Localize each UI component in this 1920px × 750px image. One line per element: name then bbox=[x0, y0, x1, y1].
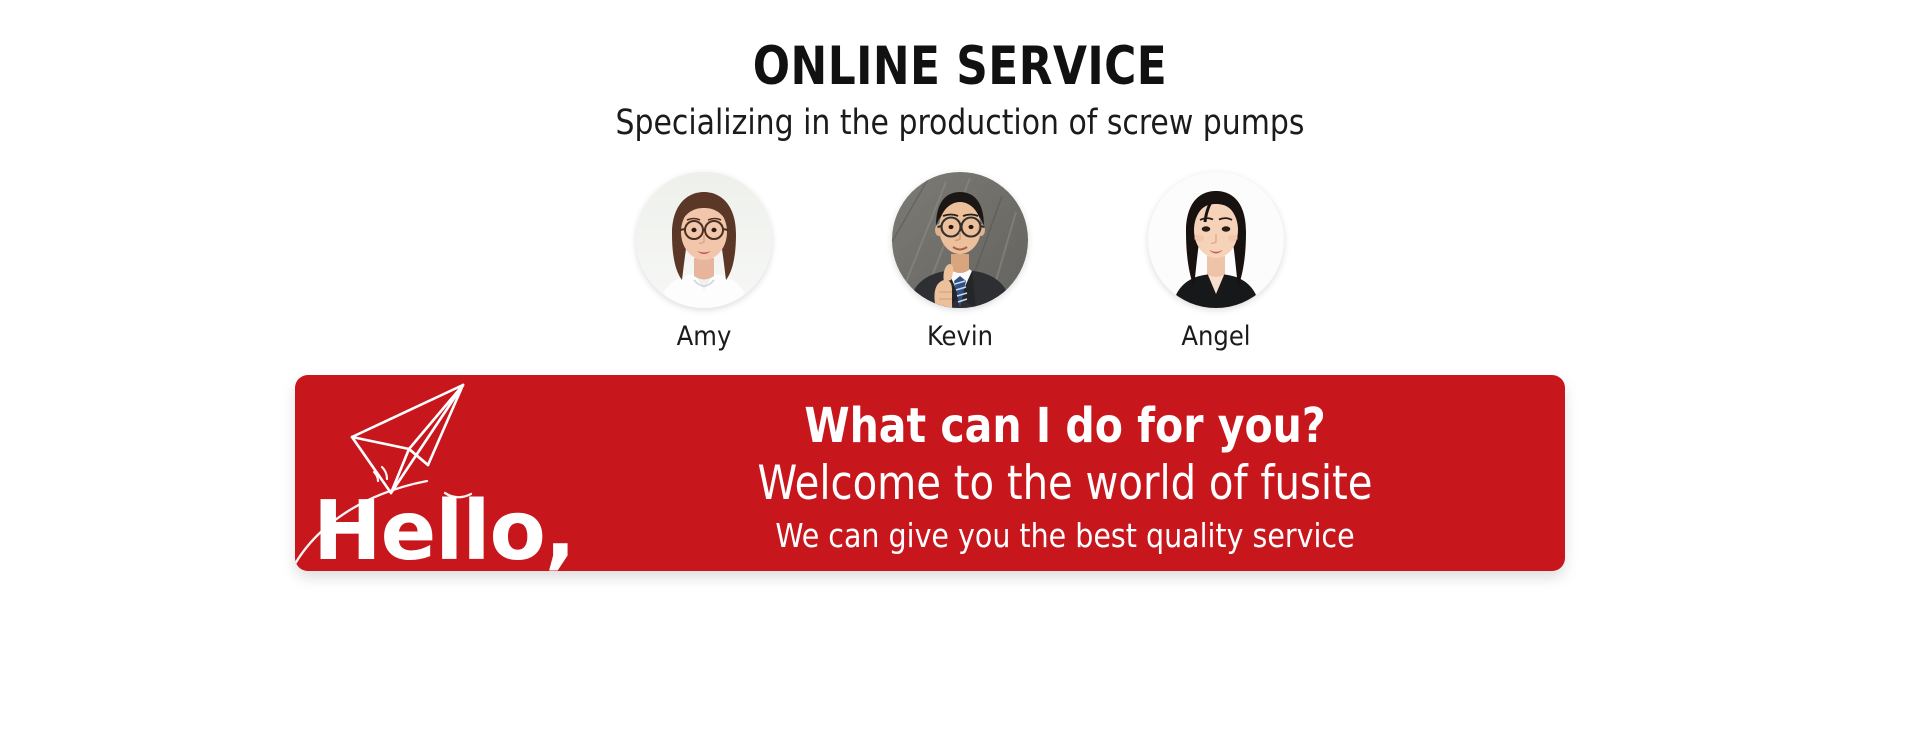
avatar-photo-amy[interactable] bbox=[636, 172, 772, 308]
page-subtitle: Specializing in the production of screw … bbox=[48, 103, 1872, 143]
avatar-photo-angel[interactable] bbox=[1148, 172, 1284, 308]
contact-cta-banner[interactable]: Hello, What can I do for you? Welcome to… bbox=[295, 375, 1565, 571]
team-member-angel[interactable]: Angel bbox=[1148, 172, 1284, 350]
banner-tagline: We can give you the best quality service bbox=[585, 516, 1545, 556]
avatar-photo-kevin[interactable] bbox=[892, 172, 1028, 308]
banner-subheadline: Welcome to the world of fusite bbox=[590, 456, 1540, 511]
team-member-name: Kevin bbox=[927, 323, 993, 350]
page-title: ONLINE SERVICE bbox=[77, 38, 1843, 95]
banner-greeting: Hello, bbox=[313, 491, 575, 571]
team-member-name: Angel bbox=[1181, 323, 1250, 350]
page-header: ONLINE SERVICE Specializing in the produ… bbox=[0, 38, 1920, 143]
team-member-name: Amy bbox=[677, 323, 732, 350]
team-member-amy[interactable]: Amy bbox=[636, 172, 772, 350]
team-member-list: Amy bbox=[0, 172, 1920, 350]
banner-copy: What can I do for you? Welcome to the wo… bbox=[565, 399, 1565, 555]
banner-headline: What can I do for you? bbox=[590, 399, 1540, 455]
team-member-kevin[interactable]: Kevin bbox=[892, 172, 1028, 350]
online-service-banner-page: ONLINE SERVICE Specializing in the produ… bbox=[0, 0, 1920, 750]
